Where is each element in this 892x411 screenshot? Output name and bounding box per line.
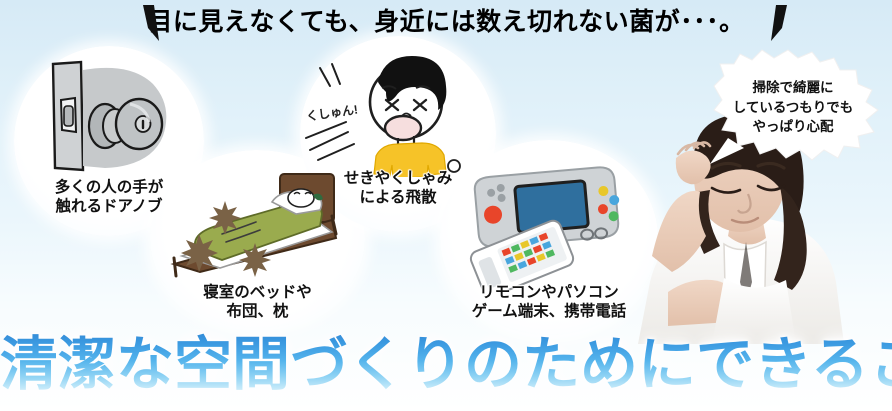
label-devices-line2: ゲーム端末、携帯電話	[440, 302, 658, 321]
label-bed-line1: 寝室のベッドや	[150, 283, 365, 302]
bottom-headline: 清潔な空間づくりのためにできること。	[0, 329, 892, 401]
speech-bubble-line3: やっぱり心配	[700, 117, 886, 137]
doorknob-icon	[35, 58, 185, 176]
label-doorknob: 多くの人の手が 触れるドアノブ	[14, 178, 204, 217]
infographic-canvas: 目に見えなくても、身近には数え切れない菌が･･･。	[0, 0, 892, 411]
label-devices-line1: リモコンやパソコン	[440, 283, 658, 302]
label-devices: リモコンやパソコン ゲーム端末、携帯電話	[440, 283, 658, 322]
slash-mark-left-icon	[140, 4, 162, 42]
label-doorknob-line2: 触れるドアノブ	[14, 197, 204, 216]
speech-bubble-line2: しているつもりでも	[700, 98, 886, 118]
label-sneeze: せきやくしゃみ による飛散	[300, 169, 496, 208]
label-bed-line2: 布団、枕	[150, 302, 365, 321]
page-headline: 目に見えなくても、身近には数え切れない菌が･･･。	[0, 2, 892, 38]
label-sneeze-line1: せきやくしゃみ	[300, 169, 496, 188]
label-doorknob-line1: 多くの人の手が	[14, 178, 204, 197]
slash-mark-right-icon	[768, 4, 790, 42]
label-bed: 寝室のベッドや 布団、枕	[150, 283, 365, 322]
label-sneeze-line2: による飛散	[300, 188, 496, 207]
bottom-headline-wrap: 清潔な空間づくりのためにできること。 清潔な空間づくりのためにできること。	[0, 329, 892, 407]
speech-bubble-line1: 掃除で綺麗に	[700, 78, 886, 98]
speech-bubble-text: 掃除で綺麗に しているつもりでも やっぱり心配	[700, 78, 886, 137]
